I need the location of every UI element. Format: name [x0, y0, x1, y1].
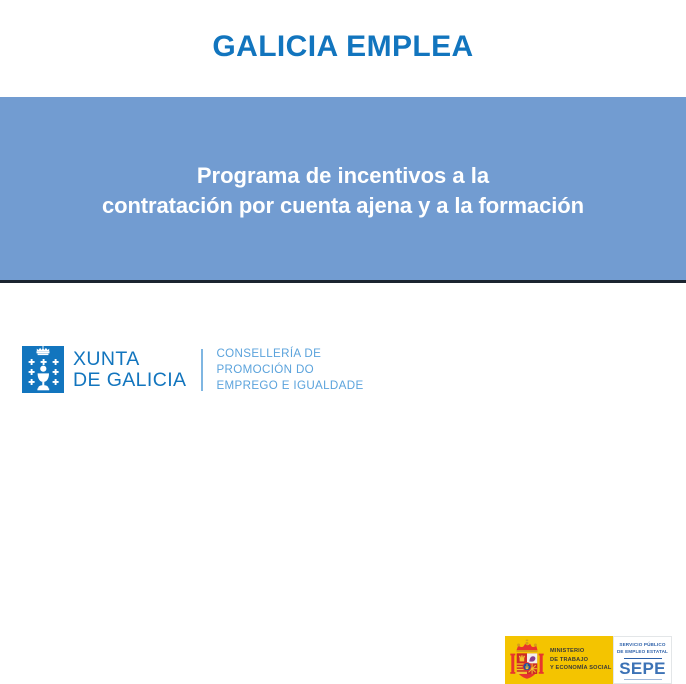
- page-title: GALICIA EMPLEA: [212, 30, 473, 64]
- ministerio-wordmark: MINISTERIO DE TRABAJO Y ECONOMÍA SOCIAL: [550, 647, 612, 673]
- sepe-subtitle-line-1: SERVICIO PÚBLICO: [617, 642, 668, 649]
- banner-text-block: Programa de incentivos a la contratación…: [23, 161, 663, 220]
- footer-logo-bar: XUNTA DE GALICIA CONSELLERÍA DE PROMOCIÓ…: [0, 286, 686, 410]
- spain-coat-of-arms-icon: [509, 639, 545, 681]
- sepe-subtitle: SERVICIO PÚBLICO DE EMPLEO ESTATAL: [617, 642, 668, 656]
- ministerio-de-trabajo-logo: MINISTERIO DE TRABAJO Y ECONOMÍA SOCIAL: [505, 636, 613, 684]
- conselleria-wordmark: CONSELLERÍA DE PROMOCIÓN DO EMPREGO E IG…: [216, 346, 363, 393]
- xunta-wordmark-line-1: XUNTA: [73, 349, 186, 370]
- conselleria-line-3: EMPREGO E IGUALDADE: [216, 378, 363, 394]
- sepe-bottom-rule: [624, 679, 662, 680]
- sepe-subtitle-line-2: DE EMPLEO ESTATAL: [617, 649, 668, 656]
- ministerio-line-3: Y ECONOMÍA SOCIAL: [550, 664, 612, 673]
- banner-line-1: Programa de incentivos a la: [23, 161, 663, 190]
- program-banner: Programa de incentivos a la contratación…: [0, 97, 686, 283]
- xunta-de-galicia-logo: XUNTA DE GALICIA CONSELLERÍA DE PROMOCIÓ…: [22, 346, 364, 393]
- ministerio-line-1: MINISTERIO: [550, 647, 612, 656]
- header-title-area: GALICIA EMPLEA: [0, 0, 686, 97]
- logo-divider: [201, 349, 203, 391]
- sepe-top-rule: [624, 658, 662, 659]
- ministerio-line-2: DE TRABAJO: [550, 656, 612, 665]
- conselleria-line-2: PROMOCIÓN DO: [216, 362, 363, 378]
- sepe-acronym: SEPE: [619, 660, 666, 677]
- xunta-wordmark: XUNTA DE GALICIA: [73, 349, 186, 390]
- galicia-coat-of-arms-icon: [22, 346, 64, 393]
- banner-line-2: contratación por cuenta ajena y a la for…: [23, 191, 663, 220]
- sepe-logo: SERVICIO PÚBLICO DE EMPLEO ESTATAL SEPE: [613, 636, 672, 684]
- xunta-wordmark-line-2: DE GALICIA: [73, 370, 186, 391]
- conselleria-line-1: CONSELLERÍA DE: [216, 346, 363, 362]
